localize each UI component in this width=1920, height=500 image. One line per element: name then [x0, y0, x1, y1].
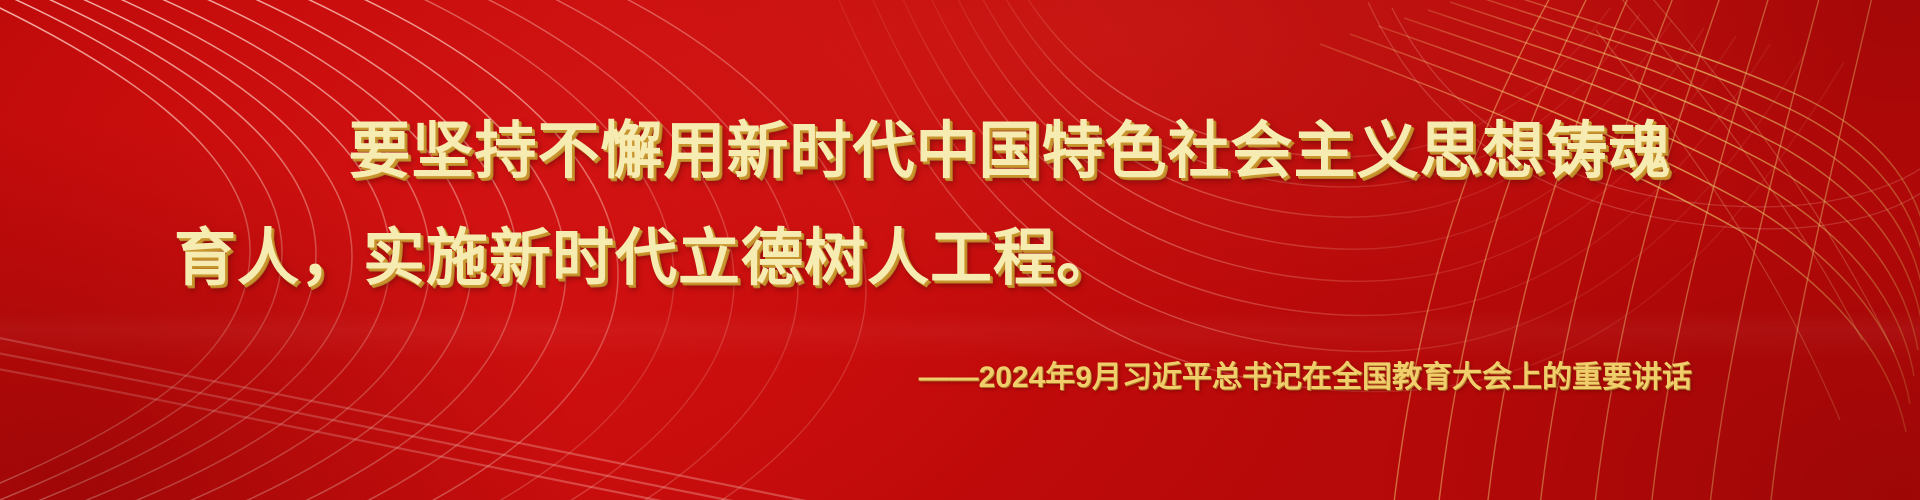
headline-line-1: 要坚持不懈用新时代中国特色社会主义思想铸魂: [150, 121, 1830, 183]
attribution-source: ——2024年9月习近平总书记在全国教育大会上的重要讲话: [0, 352, 1920, 396]
banner-content: 要坚持不懈用新时代中国特色社会主义思想铸魂 育人，实施新时代立德树人工程。 ——…: [0, 0, 1920, 500]
banner-root: 要坚持不懈用新时代中国特色社会主义思想铸魂 育人，实施新时代立德树人工程。 ——…: [0, 0, 1920, 500]
headline-line-2: 育人，实施新时代立德树人工程。: [150, 228, 1814, 290]
